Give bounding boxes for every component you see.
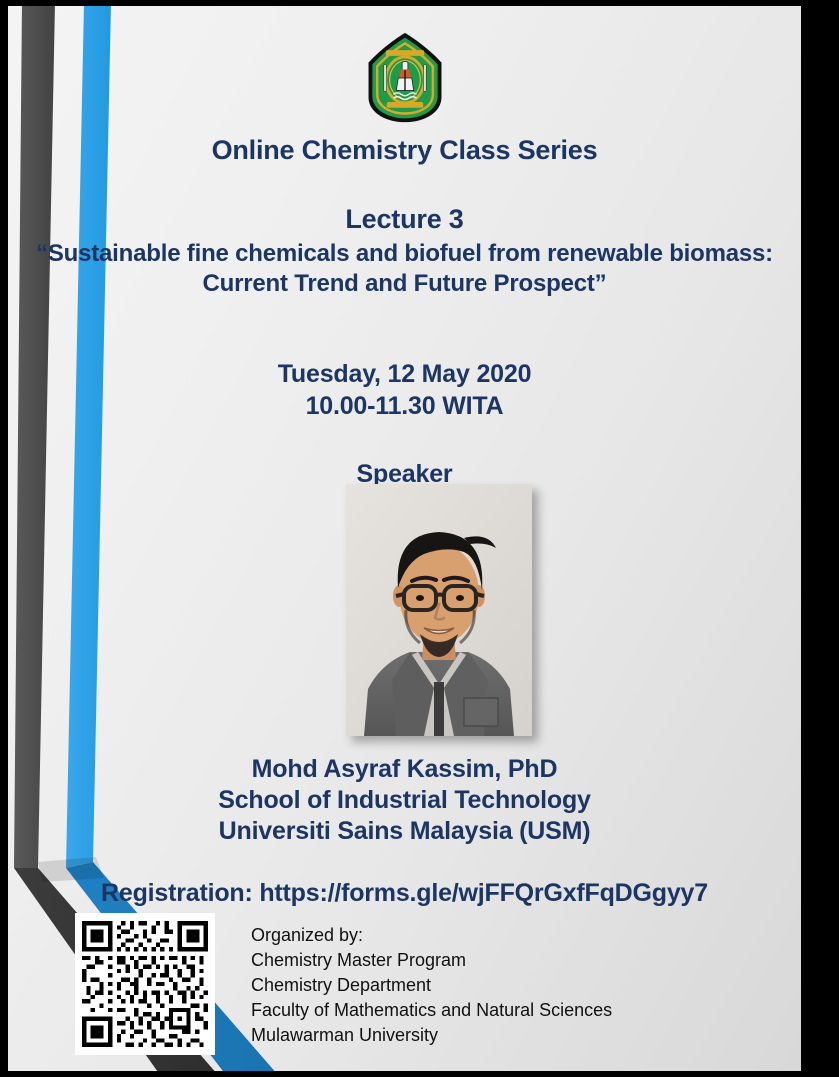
event-date: Tuesday, 12 May 2020: [8, 358, 801, 390]
registration-link[interactable]: Registration: https://forms.gle/wjFFQrGx…: [8, 878, 801, 909]
registration-qr-code[interactable]: [75, 913, 215, 1055]
poster-root: Online Chemistry Class Series Lecture 3 …: [0, 0, 839, 1077]
series-title: Online Chemistry Class Series: [8, 133, 801, 167]
poster-canvas: Online Chemistry Class Series Lecture 3 …: [8, 6, 801, 1071]
organizer-line-1: Chemistry Master Program: [251, 948, 612, 973]
date-time-block: Tuesday, 12 May 2020 10.00-11.30 WITA: [8, 358, 801, 422]
mulawarman-university-logo-icon: [357, 30, 453, 126]
organizer-block: Organized by: Chemistry Master Program C…: [251, 923, 612, 1048]
speaker-photo-frame: [346, 484, 532, 736]
speaker-school: School of Industrial Technology: [8, 785, 801, 816]
speaker-name: Mohd Asyraf Kassim, PhD: [8, 754, 801, 785]
organizer-line-3: Faculty of Mathematics and Natural Scien…: [251, 998, 612, 1023]
organizer-heading: Organized by:: [251, 923, 612, 948]
lecture-number: Lecture 3: [8, 202, 801, 236]
speaker-details: Mohd Asyraf Kassim, PhD School of Indust…: [8, 754, 801, 847]
speaker-portrait-photo: [346, 484, 532, 736]
organizer-line-2: Chemistry Department: [251, 973, 612, 998]
logo-container: [8, 30, 801, 131]
event-time: 10.00-11.30 WITA: [8, 390, 801, 422]
organizer-line-4: Mulawarman University: [251, 1023, 612, 1048]
lecture-title: “Sustainable fine chemicals and biofuel …: [8, 239, 801, 299]
speaker-university: Universiti Sains Malaysia (USM): [8, 816, 801, 847]
qr-code-icon: [82, 920, 208, 1048]
